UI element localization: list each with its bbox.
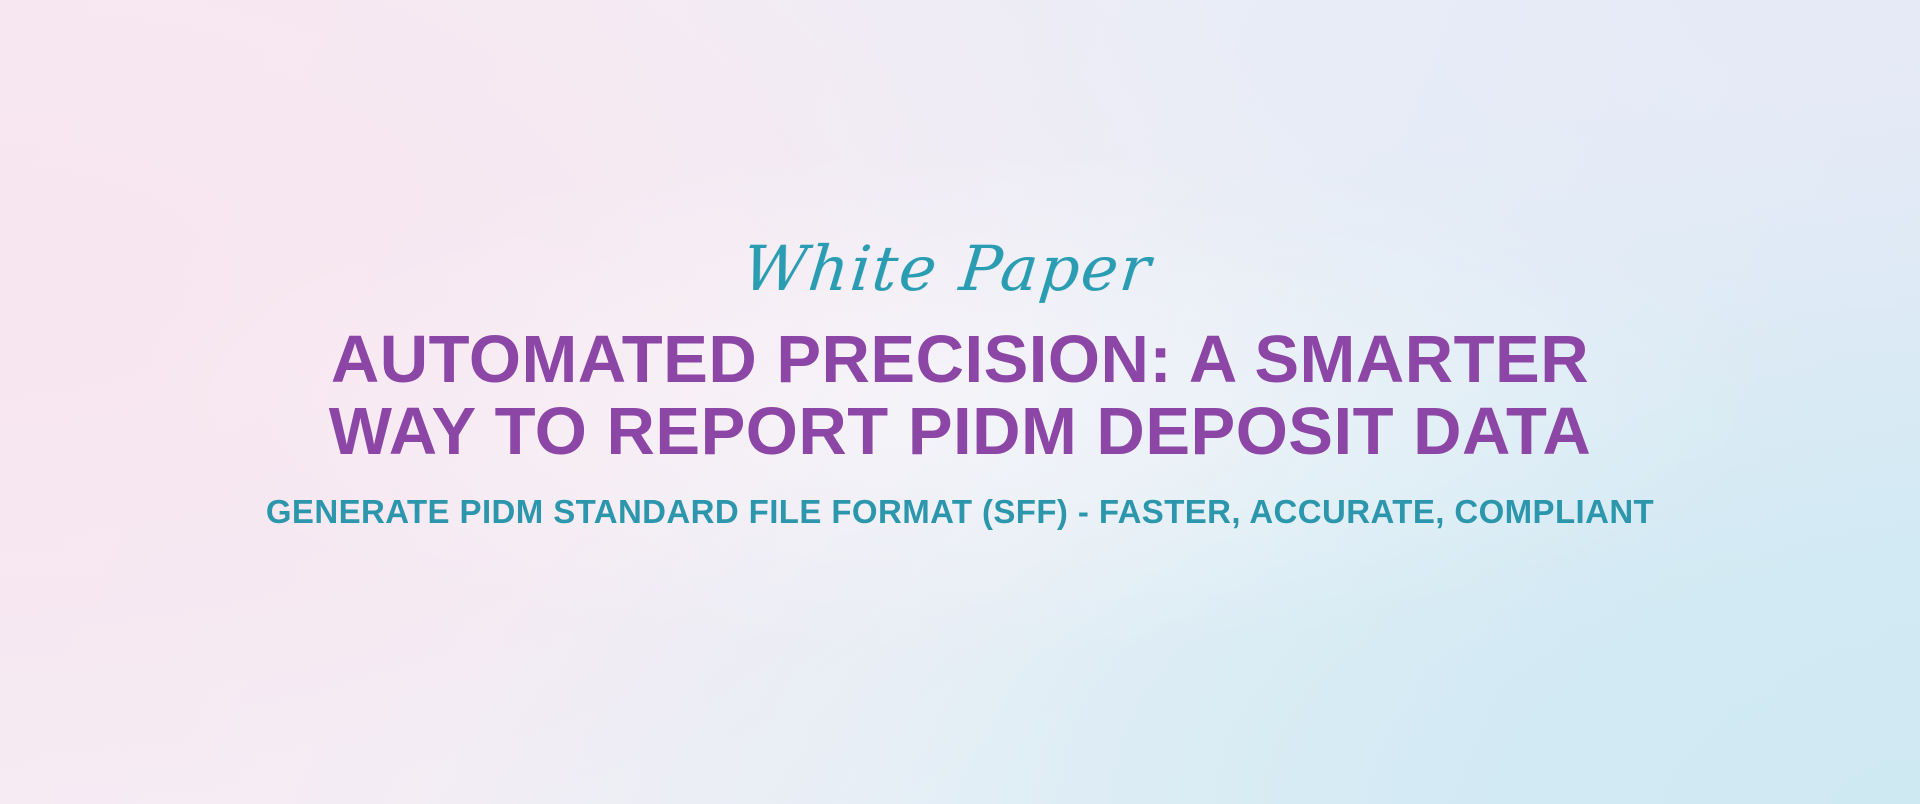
page-title-line-2: WAY TO REPORT PIDM DEPOSIT DATA [0,398,1920,466]
page-title: AUTOMATED PRECISION: A SMARTER WAY TO RE… [0,300,1920,467]
page-subtitle: GENERATE PIDM STANDARD FILE FORMAT (SFF)… [0,467,1920,531]
cover-text-stack: White Paper AUTOMATED PRECISION: A SMART… [0,0,1920,531]
eyebrow-white-paper: White Paper [0,0,1920,300]
page-title-line-1: AUTOMATED PRECISION: A SMARTER [0,326,1920,394]
white-paper-cover-banner: White Paper AUTOMATED PRECISION: A SMART… [0,0,1920,804]
